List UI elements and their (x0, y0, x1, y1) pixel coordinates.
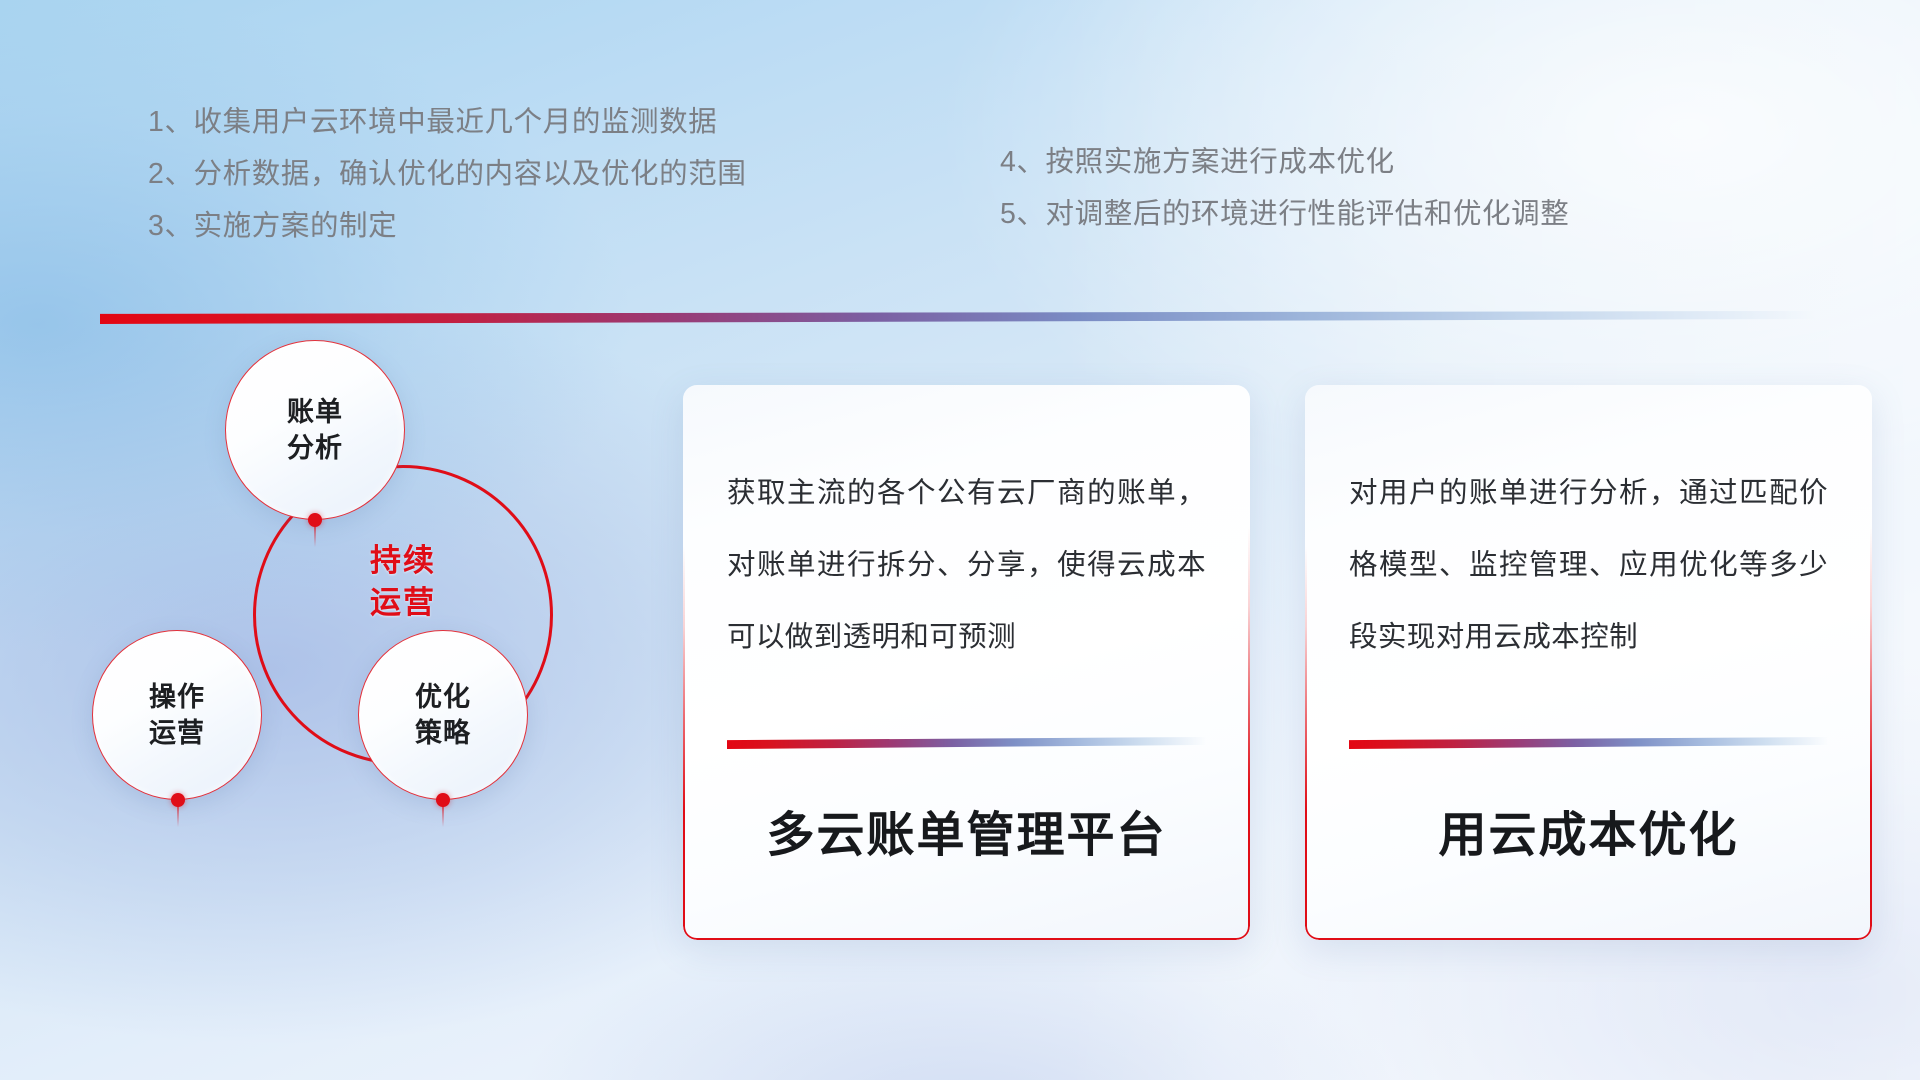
circle-label-line1: 操作 (149, 679, 205, 715)
continuous-operation-diagram: 持续 运营 账单 分析 操作 运营 优化 策略 (95, 345, 655, 945)
circle-label-line2: 分析 (287, 430, 343, 466)
diagram-center-label-line2: 运营 (255, 582, 551, 624)
process-steps-column-left: 1、收集用户云环境中最近几个月的监测数据 2、分析数据，确认优化的内容以及优化的… (148, 96, 746, 252)
circle-label-line1: 优化 (415, 679, 471, 715)
process-step-4: 4、按照实施方案进行成本优化 (1000, 136, 1569, 188)
feature-card-body: 获取主流的各个公有云厂商的账单，对账单进行拆分、分享，使得云成本可以做到透明和可… (727, 457, 1206, 673)
feature-card-multicloud-billing[interactable]: 获取主流的各个公有云厂商的账单，对账单进行拆分、分享，使得云成本可以做到透明和可… (683, 385, 1250, 940)
feature-card-divider (1349, 737, 1828, 749)
feature-card-body: 对用户的账单进行分析，通过匹配价格模型、监控管理、应用优化等多少段实现对用云成本… (1349, 457, 1828, 673)
diagram-center-label: 持续 运营 (255, 540, 551, 624)
diagram-node-dot-bottom-left (171, 793, 185, 807)
circle-label-line2: 策略 (415, 715, 471, 751)
feature-card-divider-bar (727, 737, 1206, 749)
diagram-node-dot-top (308, 513, 322, 527)
diagram-circle-optimization-strategy[interactable]: 优化 策略 (358, 630, 528, 800)
feature-card-divider (727, 737, 1206, 749)
circle-label-line2: 运营 (149, 715, 205, 751)
feature-card-cloud-cost-optimization[interactable]: 对用户的账单进行分析，通过匹配价格模型、监控管理、应用优化等多少段实现对用云成本… (1305, 385, 1872, 940)
header-divider (100, 311, 1816, 324)
feature-card-divider-bar (1349, 737, 1828, 749)
diagram-node-tail-bottom-left (177, 805, 179, 827)
process-steps-column-right: 4、按照实施方案进行成本优化 5、对调整后的环境进行性能评估和优化调整 (1000, 136, 1569, 240)
feature-card-title: 用云成本优化 (1349, 805, 1828, 867)
diagram-center-label-line1: 持续 (255, 540, 551, 582)
feature-cards: 获取主流的各个公有云厂商的账单，对账单进行拆分、分享，使得云成本可以做到透明和可… (683, 385, 1873, 945)
diagram-circle-operations[interactable]: 操作 运营 (92, 630, 262, 800)
diagram-node-dot-bottom-right (436, 793, 450, 807)
header-divider-bar (100, 311, 1816, 324)
process-steps-list: 1、收集用户云环境中最近几个月的监测数据 2、分析数据，确认优化的内容以及优化的… (0, 96, 1920, 276)
diagram-node-tail-bottom-right (442, 805, 444, 827)
feature-card-title: 多云账单管理平台 (727, 805, 1206, 867)
diagram-node-tail-top (314, 525, 316, 547)
process-step-5: 5、对调整后的环境进行性能评估和优化调整 (1000, 188, 1569, 240)
process-step-3: 3、实施方案的制定 (148, 200, 746, 252)
circle-label-line1: 账单 (287, 394, 343, 430)
diagram-circle-bill-analysis[interactable]: 账单 分析 (225, 340, 405, 520)
process-step-2: 2、分析数据，确认优化的内容以及优化的范围 (148, 148, 746, 200)
process-step-1: 1、收集用户云环境中最近几个月的监测数据 (148, 96, 746, 148)
